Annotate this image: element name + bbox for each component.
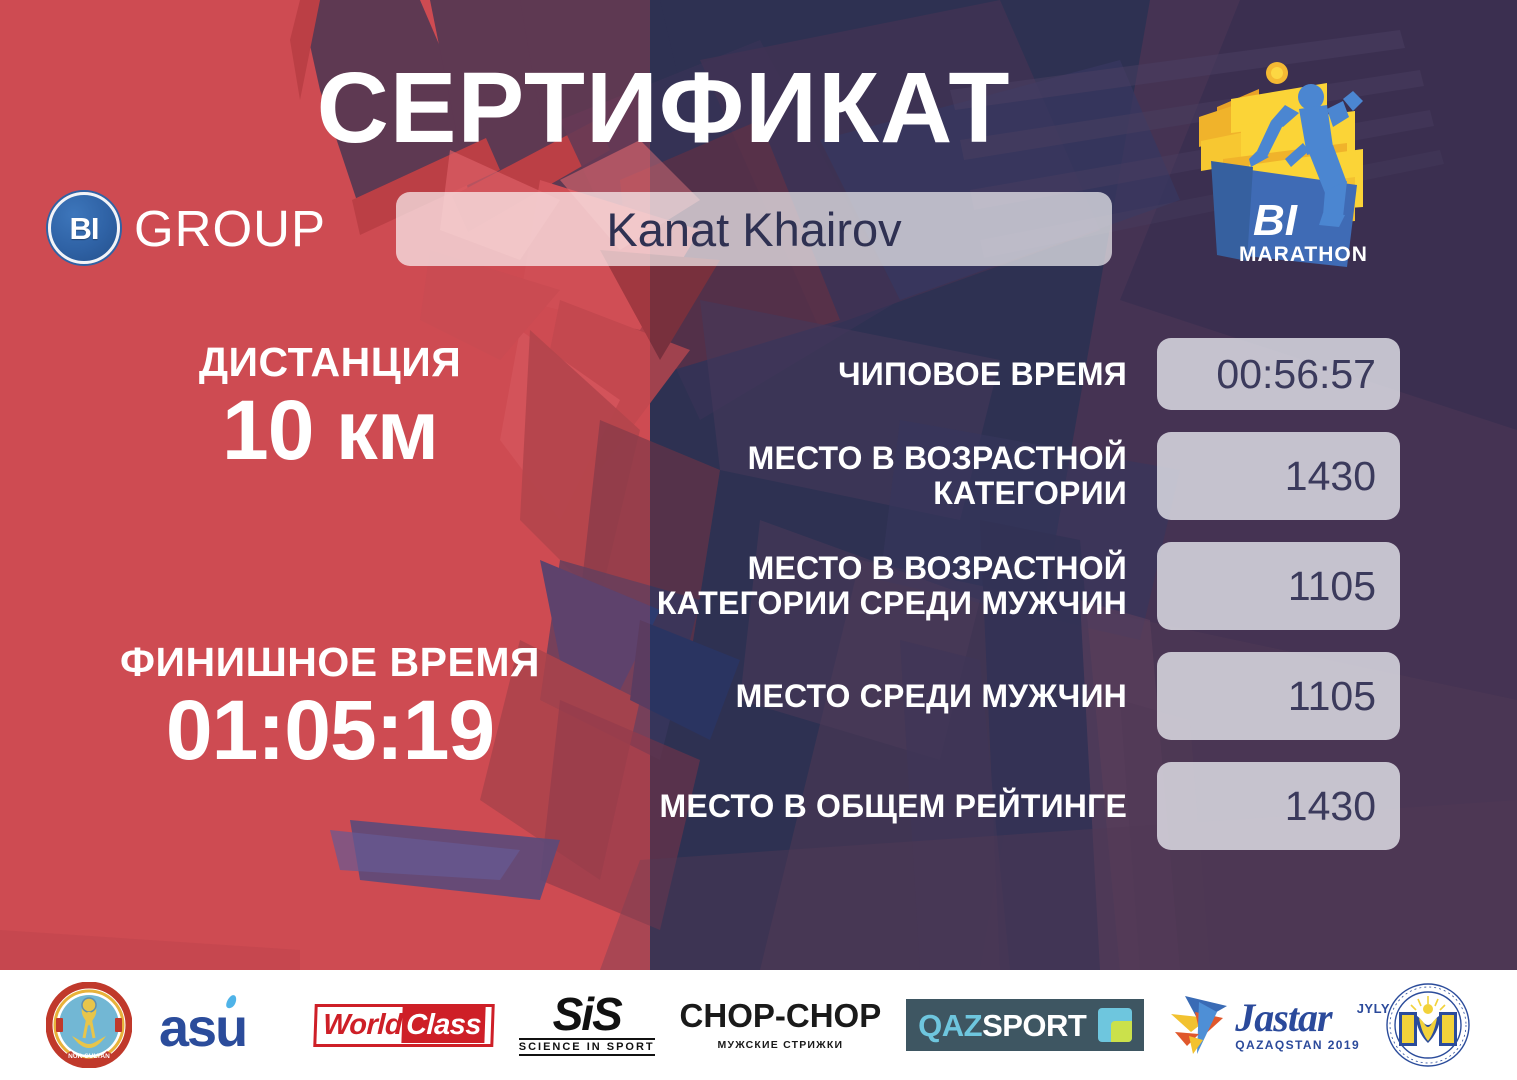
sponsor-world-class: WorldClass bbox=[314, 981, 494, 1069]
distance-label: ДИСТАНЦИЯ bbox=[90, 340, 570, 384]
jastar-superscript: JYLY bbox=[1357, 1001, 1390, 1016]
sponsor-strip: NUR-SULTAN asu WorldClass SiS SCIENCE IN… bbox=[0, 970, 1517, 1080]
chop-chop-tagline: МУЖСКИЕ СТРИЖКИ bbox=[680, 1039, 882, 1051]
certificate-content: СЕРТИФИКАТ BI GROUP Kanat Khairov bbox=[0, 0, 1517, 970]
jastar-caption: Jastar bbox=[1235, 999, 1360, 1037]
ministry-culture-sport-emblem-icon bbox=[1385, 982, 1471, 1068]
badge-line1: BI bbox=[1253, 196, 1298, 245]
participant-name-field: Kanat Khairov bbox=[396, 192, 1112, 266]
bi-group-mark-text: BI bbox=[70, 213, 99, 244]
sis-caption: SiS bbox=[519, 994, 655, 1035]
sponsor-asu: asu bbox=[157, 981, 289, 1069]
stat-value: 1430 bbox=[1285, 456, 1376, 497]
stat-value-pill: 1430 bbox=[1157, 762, 1400, 850]
asu-logo-icon: asu bbox=[157, 994, 289, 1056]
qazsport-caption-b: SPORT bbox=[982, 1008, 1086, 1043]
sponsor-chop-chop: CHOP-CHOP МУЖСКИЕ СТРИЖКИ bbox=[680, 981, 882, 1069]
certificate-page: СЕРТИФИКАТ BI GROUP Kanat Khairov bbox=[0, 0, 1517, 1080]
stat-value: 1105 bbox=[1288, 566, 1376, 607]
sponsor-sis: SiS SCIENCE IN SPORT bbox=[519, 981, 655, 1069]
finish-time-block: ФИНИШНОЕ ВРЕМЯ 01:05:19 bbox=[90, 640, 570, 774]
bi-group-logo-icon: BI bbox=[48, 192, 120, 264]
nur-sultan-caption: NUR-SULTAN bbox=[68, 1053, 110, 1060]
stat-value-pill: 1105 bbox=[1157, 542, 1400, 630]
stat-value-pill: 00:56:57 bbox=[1157, 338, 1400, 410]
distance-value: 10 км bbox=[90, 388, 570, 474]
badge-line2: MARATHON bbox=[1239, 243, 1368, 266]
stat-label: МЕСТО В ОБЩЕМ РЕЙТИНГЕ bbox=[600, 789, 1127, 824]
world-class-logo-icon: WorldClass bbox=[313, 1004, 495, 1047]
stat-label: МЕСТО В ВОЗРАСТНОЙ КАТЕГОРИИ bbox=[600, 441, 1127, 510]
chop-chop-caption: CHOP-CHOP bbox=[680, 999, 882, 1032]
bi-marathon-badge-icon: BI MARATHON bbox=[1187, 55, 1382, 290]
finish-time-value: 01:05:19 bbox=[90, 688, 570, 774]
world-class-caption-a: World bbox=[322, 1009, 402, 1041]
sponsor-qazsport: QAZSPORT bbox=[906, 981, 1144, 1069]
bi-group-name: GROUP bbox=[134, 203, 326, 254]
stat-row-chip-time: ЧИПОВОЕ ВРЕМЯ 00:56:57 bbox=[600, 338, 1400, 410]
nur-sultan-emblem-icon: NUR-SULTAN bbox=[46, 982, 132, 1068]
sis-tagline: SCIENCE IN SPORT bbox=[519, 1038, 655, 1056]
stats-list: ЧИПОВОЕ ВРЕМЯ 00:56:57 МЕСТО В ВОЗРАСТНО… bbox=[600, 338, 1400, 850]
jastar-jyly-logo-icon bbox=[1169, 992, 1229, 1058]
chop-chop-logo-icon: CHOP-CHOP МУЖСКИЕ СТРИЖКИ bbox=[680, 999, 882, 1051]
stat-row-age-category: МЕСТО В ВОЗРАСТНОЙ КАТЕГОРИИ 1430 bbox=[600, 432, 1400, 520]
bi-group-logo: BI GROUP bbox=[48, 192, 326, 264]
sponsor-nur-sultan: NUR-SULTAN bbox=[46, 981, 132, 1069]
qazsport-logo-icon: QAZSPORT bbox=[906, 999, 1144, 1051]
qazsport-square-icon bbox=[1098, 1008, 1132, 1042]
sis-logo-icon: SiS SCIENCE IN SPORT bbox=[519, 994, 655, 1056]
asu-caption: asu bbox=[159, 998, 246, 1056]
stat-value-pill: 1430 bbox=[1157, 432, 1400, 520]
stat-label: ЧИПОВОЕ ВРЕМЯ bbox=[600, 357, 1127, 392]
participant-name: Kanat Khairov bbox=[606, 206, 901, 253]
jastar-tagline: QAZAQSTAN 2019 bbox=[1235, 1038, 1360, 1052]
distance-block: ДИСТАНЦИЯ 10 км bbox=[90, 340, 570, 474]
stat-value-pill: 1105 bbox=[1157, 652, 1400, 740]
stat-row-age-category-men: МЕСТО В ВОЗРАСТНОЙ КАТЕГОРИИ СРЕДИ МУЖЧИ… bbox=[600, 542, 1400, 630]
stat-value: 1105 bbox=[1288, 676, 1376, 717]
stat-row-men: МЕСТО СРЕДИ МУЖЧИН 1105 bbox=[600, 652, 1400, 740]
qazsport-caption-a: QAZ bbox=[918, 1008, 982, 1043]
stat-label: МЕСТО СРЕДИ МУЖЧИН bbox=[600, 679, 1127, 714]
left-stats-column: ДИСТАНЦИЯ 10 км ФИНИШНОЕ ВРЕМЯ 01:05:19 bbox=[90, 340, 570, 774]
finish-time-label: ФИНИШНОЕ ВРЕМЯ bbox=[90, 640, 570, 684]
world-class-caption-b: Class bbox=[401, 1007, 485, 1043]
stat-value: 1430 bbox=[1285, 786, 1376, 827]
sponsor-jastar-jyly: Jastar JYLY QAZAQSTAN 2019 bbox=[1169, 981, 1360, 1069]
stat-value: 00:56:57 bbox=[1216, 354, 1376, 395]
stat-label: МЕСТО В ВОЗРАСТНОЙ КАТЕГОРИИ СРЕДИ МУЖЧИ… bbox=[600, 551, 1127, 620]
sponsor-ministry bbox=[1385, 981, 1471, 1069]
stat-row-overall: МЕСТО В ОБЩЕМ РЕЙТИНГЕ 1430 bbox=[600, 762, 1400, 850]
